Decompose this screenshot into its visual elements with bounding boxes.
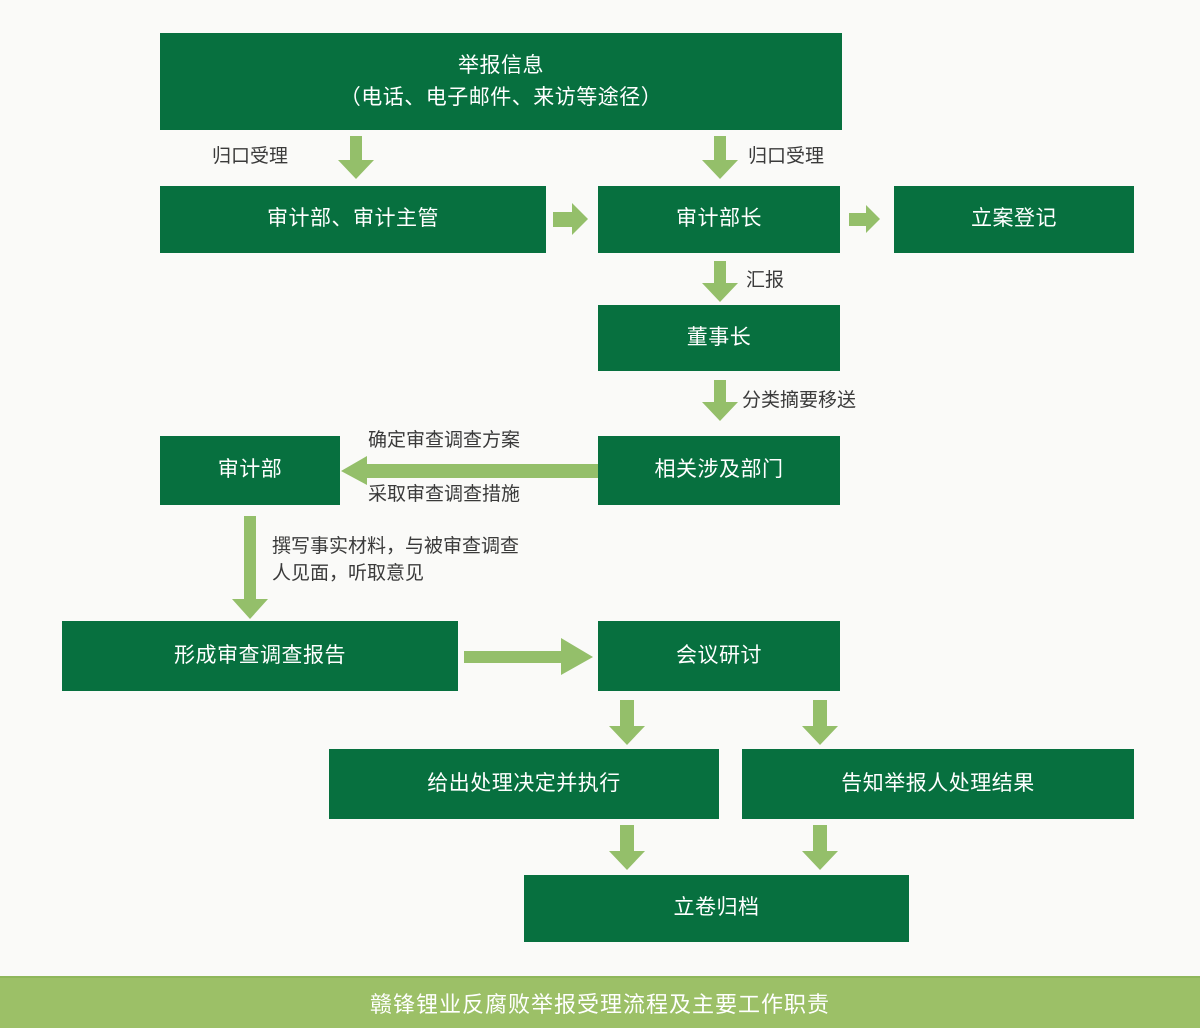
node-audit-dept-supervisor[interactable]: 审计部、审计主管: [160, 186, 546, 253]
arrow-supervisor-to-director: [553, 203, 589, 236]
node-decision-execution[interactable]: 给出处理决定并执行: [329, 749, 719, 819]
node-notify-reporter[interactable]: 告知举报人处理结果: [742, 749, 1134, 819]
label-write-materials-line1: 撰写事实材料，与被审查调查: [272, 536, 519, 557]
arrow-director-to-registration: [849, 205, 881, 234]
node-audit-director[interactable]: 审计部长: [598, 186, 840, 253]
node-file-archiving[interactable]: 立卷归档: [524, 875, 909, 942]
node-report-info-line1: 举报信息: [458, 54, 544, 77]
arrow-report-to-meeting: [464, 638, 594, 676]
label-write-materials-line2: 人见面，听取意见: [272, 563, 424, 584]
footer-bar: 赣锋锂业反腐败举报受理流程及主要工作职责: [0, 976, 1200, 1028]
footer-title: 赣锋锂业反腐败举报受理流程及主要工作职责: [370, 987, 830, 1019]
node-case-registration[interactable]: 立案登记: [894, 186, 1134, 253]
flowchart-canvas: 举报信息 （电话、电子邮件、来访等途径） 归口受理 归口受理 审计部、审计主管 …: [0, 0, 1200, 1028]
arrow-meeting-to-notify: [801, 700, 839, 746]
node-investigation-report[interactable]: 形成审查调查报告: [62, 621, 458, 691]
arrow-decision-to-archive: [608, 825, 646, 871]
node-chairman[interactable]: 董事长: [598, 305, 840, 371]
label-take-measures: 采取审查调查措施: [368, 482, 520, 509]
label-intake-left: 归口受理: [212, 144, 288, 171]
node-audit-department[interactable]: 审计部: [160, 436, 340, 505]
node-report-info-line2: （电话、电子邮件、来访等途径）: [340, 86, 663, 109]
label-determine-plan: 确定审查调查方案: [368, 428, 520, 455]
arrow-notify-to-archive: [801, 825, 839, 871]
arrow-audit-to-report: [231, 516, 269, 620]
label-intake-right: 归口受理: [748, 144, 824, 171]
node-report-info[interactable]: 举报信息 （电话、电子邮件、来访等途径）: [160, 33, 842, 130]
arrow-meeting-to-decision: [608, 700, 646, 746]
node-related-departments[interactable]: 相关涉及部门: [598, 436, 840, 505]
label-report-up: 汇报: [746, 268, 784, 295]
arrow-intake-left: [337, 136, 375, 180]
arrow-intake-right: [701, 136, 739, 180]
label-write-materials: 撰写事实材料，与被审查调查 人见面，听取意见: [272, 534, 632, 587]
arrow-report-up: [701, 261, 739, 303]
arrow-classify-transfer: [701, 380, 739, 422]
label-classify-transfer: 分类摘要移送: [742, 388, 856, 415]
node-meeting-discussion[interactable]: 会议研讨: [598, 621, 840, 691]
